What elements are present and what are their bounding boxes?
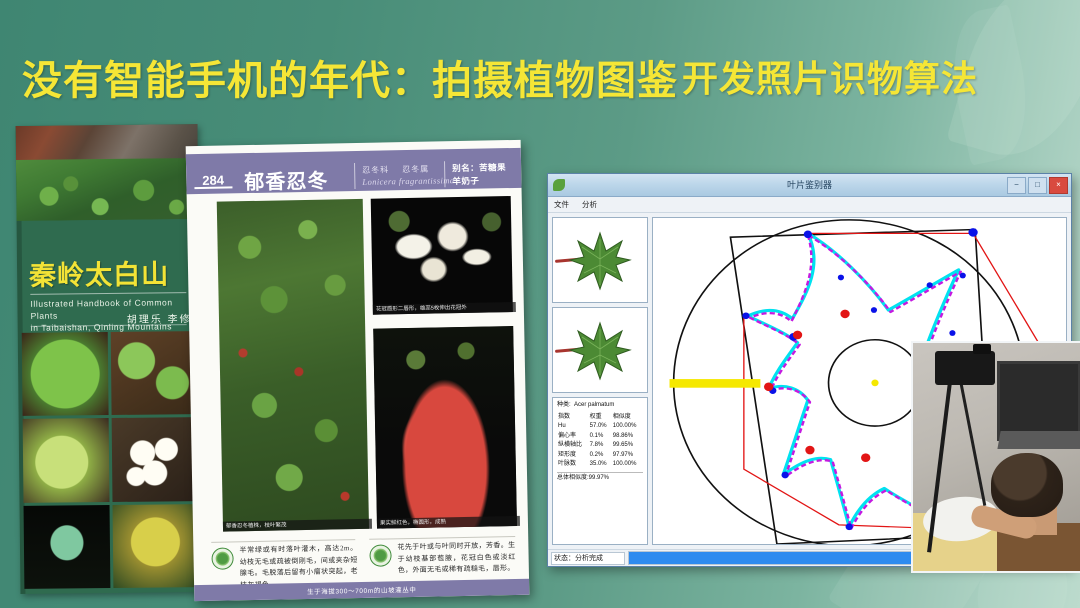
cell-weight: 0.1%: [589, 432, 612, 442]
table-row: Hu 57.0% 100.00%: [557, 422, 643, 432]
species-family: 忍冬科: [362, 164, 389, 176]
photographer-shooting-leaf-photo: [911, 341, 1080, 573]
menu-bar: 文件 分析: [548, 197, 1071, 213]
cell-similarity: 100.00%: [612, 460, 643, 470]
cell-metric: Hu: [557, 422, 589, 432]
cell-similarity: 97.97%: [612, 451, 643, 461]
divider: [354, 163, 355, 189]
table-header-row: 指数 权重 相似度: [557, 413, 643, 423]
total-similarity: 总体相似度:99.97%: [557, 472, 643, 484]
cover-photo-grid: [22, 331, 199, 589]
species-name-cn: 郁香忍冬: [244, 165, 329, 196]
table-row: 叶脉数 35.0% 100.00%: [557, 460, 643, 470]
menu-item-file[interactable]: 文件: [554, 199, 569, 210]
species-alias-value: 羊奶子: [452, 175, 479, 188]
book-authors: 胡理乐 李修: [127, 310, 192, 326]
habitat-note: 生于海拔300～700m的山坡灌丛中: [307, 584, 417, 596]
slide-title-row: 没有智能手机的年代：拍摄植物图鉴 开发照片识物算法: [0, 48, 1080, 110]
minimize-button[interactable]: −: [1007, 177, 1026, 194]
habit-photo-caption: 郁香忍冬植株，枝叶繁茂: [223, 519, 372, 532]
cell-similarity: 99.65%: [612, 441, 643, 451]
species-latin-name: Lonicera fragrantissima: [362, 175, 454, 187]
column-metric: 指数: [557, 413, 589, 423]
flower-icon: [369, 544, 391, 566]
left-panel: 种类: Acer palmatum 指数 权重 相似度: [552, 217, 648, 545]
cell-metric: 纵横轴比: [557, 441, 589, 451]
cover-grid-photo: [24, 505, 110, 589]
window-title-bar[interactable]: 叶片鉴别器 − □ ×: [548, 174, 1071, 197]
species-alias-label: 别名：苦糖果: [452, 161, 506, 174]
cover-habitat-photo: [16, 124, 199, 221]
page-number: 284: [202, 173, 224, 188]
centroid-dot: [871, 380, 878, 387]
book-page: 284 郁香忍冬 忍冬科 忍冬属 Lonicera fragrantissima…: [186, 140, 530, 601]
column-similarity: 相似度: [612, 413, 643, 423]
cell-weight: 35.0%: [589, 460, 612, 470]
book-page-header: 284 郁香忍冬 忍冬科 忍冬属 Lonicera fragrantissima…: [186, 148, 522, 194]
book-title-cn: 秦岭太白山: [29, 252, 169, 292]
cover-grid-photo: [23, 418, 109, 502]
habit-photo: [217, 199, 369, 532]
cell-similarity: 100.00%: [612, 422, 643, 432]
status-label: 状态：分析完成: [551, 552, 625, 565]
maximize-button[interactable]: □: [1028, 177, 1047, 194]
cover-grid-photo: [110, 331, 196, 415]
metrics-table: 指数 权重 相似度 Hu 57.0% 100.00%: [557, 413, 643, 470]
monitor: [997, 361, 1080, 441]
fruit-photo-caption: 果实鲜红色，椭圆形，成熟: [377, 516, 520, 529]
flower-photo: [371, 196, 513, 315]
cell-weight: 57.0%: [589, 422, 612, 432]
yellow-axis-line: [670, 379, 761, 388]
menu-item-analyze[interactable]: 分析: [582, 199, 597, 210]
analysis-result-table: 种类: Acer palmatum 指数 权重 相似度: [552, 397, 648, 545]
cell-similarity: 98.86%: [612, 432, 643, 442]
habit-icon: [211, 547, 233, 569]
table-row: 偏心率 0.1% 98.86%: [557, 432, 643, 442]
divider: [369, 536, 515, 540]
species-genus: 忍冬属: [402, 164, 429, 176]
species-result-row: 种类: Acer palmatum: [557, 401, 643, 411]
person-head: [991, 453, 1063, 517]
species-value: Acer palmatum: [574, 402, 614, 408]
book-cover: 秦岭太白山 Illustrated Handbook of Common Pla…: [16, 124, 203, 594]
cell-metric: 叶脉数: [557, 460, 589, 470]
cell-metric: 偏心率: [557, 432, 589, 442]
page-title: 没有智能手机的年代：拍摄植物图鉴: [22, 48, 678, 106]
column-weight: 权重: [589, 413, 612, 423]
page-subtitle: 开发照片识物算法: [682, 50, 978, 102]
maple-leaf-icon: [568, 319, 632, 381]
cell-weight: 7.8%: [589, 441, 612, 451]
flower-description: 花先于叶或与叶同时开放，芳香。生于幼枝基部苞腋，花冠白色或淡红色，外面无毛或稀有…: [397, 540, 516, 577]
camera-icon: [935, 351, 995, 385]
laptop: [997, 431, 1080, 449]
flower-photo-caption: 花冠唇形二唇形，雄蕊5枚伸出花冠外: [373, 302, 516, 315]
close-button[interactable]: ×: [1049, 177, 1068, 194]
cover-grid-photo: [111, 417, 197, 501]
fruit-photo: [373, 326, 517, 529]
window-title: 叶片鉴别器: [548, 178, 1071, 191]
divider: [211, 539, 355, 543]
species-label: 种类:: [557, 402, 571, 408]
leaf-thumbnail-original[interactable]: [552, 217, 648, 303]
maple-leaf-icon: [568, 229, 632, 291]
table-row: 纵横轴比 7.8% 99.65%: [557, 441, 643, 451]
cell-metric: 矩形度: [557, 451, 589, 461]
slide-canvas: 没有智能手机的年代：拍摄植物图鉴 开发照片识物算法 秦岭太白山 Illustra…: [0, 0, 1080, 608]
table-row: 矩形度 0.2% 97.97%: [557, 451, 643, 461]
divider: [30, 292, 186, 295]
leaf-thumbnail-matched[interactable]: [552, 307, 648, 393]
cell-weight: 0.2%: [589, 451, 612, 461]
divider: [444, 161, 445, 187]
window-controls: − □ ×: [1007, 177, 1068, 194]
cover-grid-photo: [112, 504, 198, 588]
cover-grid-photo: [22, 332, 108, 416]
